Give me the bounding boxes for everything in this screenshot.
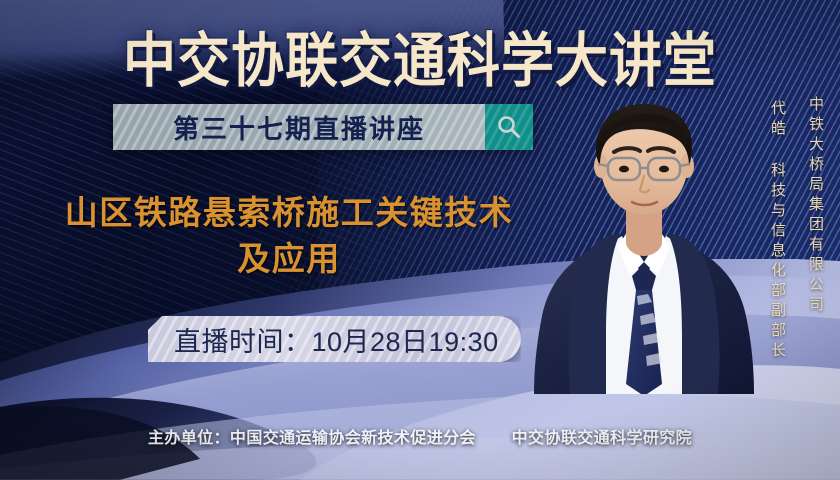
webinar-poster: 中交协联交通科学大讲堂 第三十七期直播讲座 山区铁路悬索桥施工关键技术 及应用 … <box>0 0 840 480</box>
search-icon <box>496 114 522 140</box>
episode-banner: 第三十七期直播讲座 <box>113 104 533 150</box>
organizer-primary: 主办单位：中国交通运输协会新技术促进分会 <box>148 430 476 447</box>
topic-line-1: 山区铁路悬索桥施工关键技术 <box>65 194 514 231</box>
page-title: 中交协联交通科学大讲堂 <box>0 14 840 99</box>
topic-title: 山区铁路悬索桥施工关键技术 及应用 <box>24 190 554 282</box>
speaker-name-role: 代皓 科技与信息化部副部长 <box>767 100 788 362</box>
organizer-footer: 主办单位：中国交通运输协会新技术促进分会 中交协联交通科学研究院 <box>0 424 840 448</box>
episode-label-box: 第三十七期直播讲座 <box>113 104 485 150</box>
episode-label: 第三十七期直播讲座 <box>173 109 425 146</box>
search-button[interactable] <box>485 104 533 150</box>
schedule-pill: 直播时间：10月28日19:30 <box>148 316 521 362</box>
speaker-organization: 中铁大桥局集团有限公司 <box>805 96 826 316</box>
speaker-portrait <box>534 84 754 394</box>
schedule-text: 直播时间：10月28日19:30 <box>174 320 499 359</box>
topic-line-2: 及应用 <box>24 236 554 282</box>
organizer-secondary: 中交协联交通科学研究院 <box>512 430 692 447</box>
